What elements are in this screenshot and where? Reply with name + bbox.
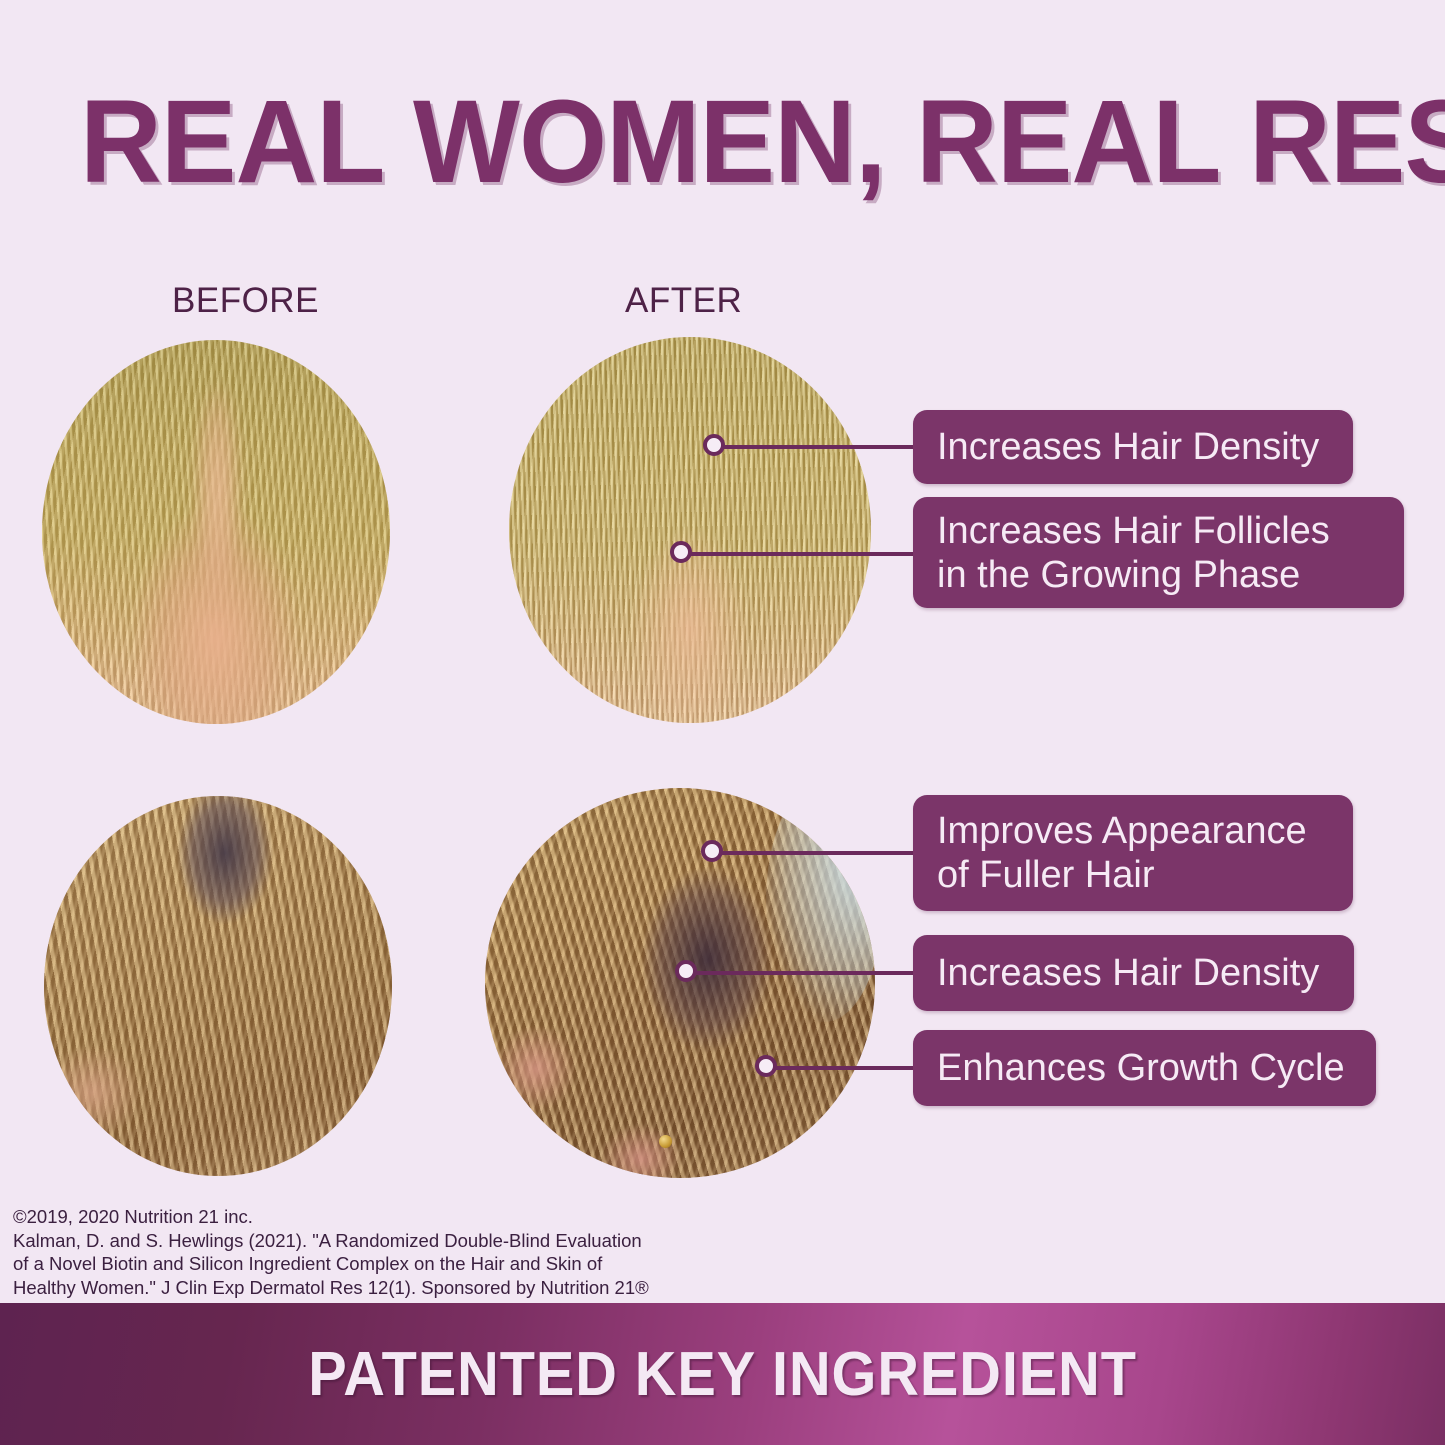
column-label-before: BEFORE (172, 281, 319, 321)
callout-text-line1: Improves Appearance (937, 809, 1307, 853)
callout-text-line2: of Fuller Hair (937, 853, 1307, 897)
citation-block: ©2019, 2020 Nutrition 21 inc. Kalman, D.… (13, 1205, 713, 1299)
citation-line-1: ©2019, 2020 Nutrition 21 inc. (13, 1205, 713, 1229)
earring-icon (659, 1135, 672, 1148)
citation-line-3: of a Novel Biotin and Silicon Ingredient… (13, 1252, 713, 1276)
bottom-banner: PATENTED KEY INGREDIENT (0, 1303, 1445, 1445)
leader-line-4 (685, 971, 913, 975)
hair-texture (44, 796, 392, 1176)
column-label-after: AFTER (625, 281, 742, 321)
citation-line-4: Healthy Women." J Clin Exp Dermatol Res … (13, 1276, 713, 1300)
citation-line-2: Kalman, D. and S. Hewlings (2021). "A Ra… (13, 1229, 713, 1253)
callout-increases-hair-density-bottom: Increases Hair Density (913, 935, 1354, 1011)
leader-line-5 (765, 1066, 913, 1070)
callout-improves-appearance: Improves Appearance of Fuller Hair (913, 795, 1353, 911)
leader-dot-3 (701, 840, 723, 862)
callout-text-line1: Increases Hair Follicles (937, 509, 1330, 553)
leader-dot-4 (675, 960, 697, 982)
page-title: REAL WOMEN, REAL RESULTS! (80, 82, 1328, 202)
leader-line-3 (711, 851, 913, 855)
callout-increases-hair-density-top: Increases Hair Density (913, 410, 1353, 484)
callout-text-line2: in the Growing Phase (937, 553, 1330, 597)
photo-before-bottom (44, 796, 392, 1176)
leader-line-1 (713, 445, 913, 449)
leader-dot-5 (755, 1055, 777, 1077)
leader-dot-2 (670, 541, 692, 563)
photo-after-top (509, 337, 871, 723)
hair-texture (509, 337, 871, 723)
callout-increases-hair-follicles: Increases Hair Follicles in the Growing … (913, 497, 1404, 608)
callout-enhances-growth-cycle: Enhances Growth Cycle (913, 1030, 1376, 1106)
callout-text: Increases Hair Density (937, 951, 1319, 995)
callout-text: Enhances Growth Cycle (937, 1046, 1345, 1090)
leader-line-2 (680, 552, 913, 556)
leader-dot-1 (703, 434, 725, 456)
callout-text: Increases Hair Density (937, 425, 1319, 469)
photo-before-top (42, 340, 390, 724)
banner-text: PATENTED KEY INGREDIENT (308, 1339, 1137, 1410)
hair-texture (42, 340, 390, 724)
photo-after-bottom (485, 788, 875, 1178)
